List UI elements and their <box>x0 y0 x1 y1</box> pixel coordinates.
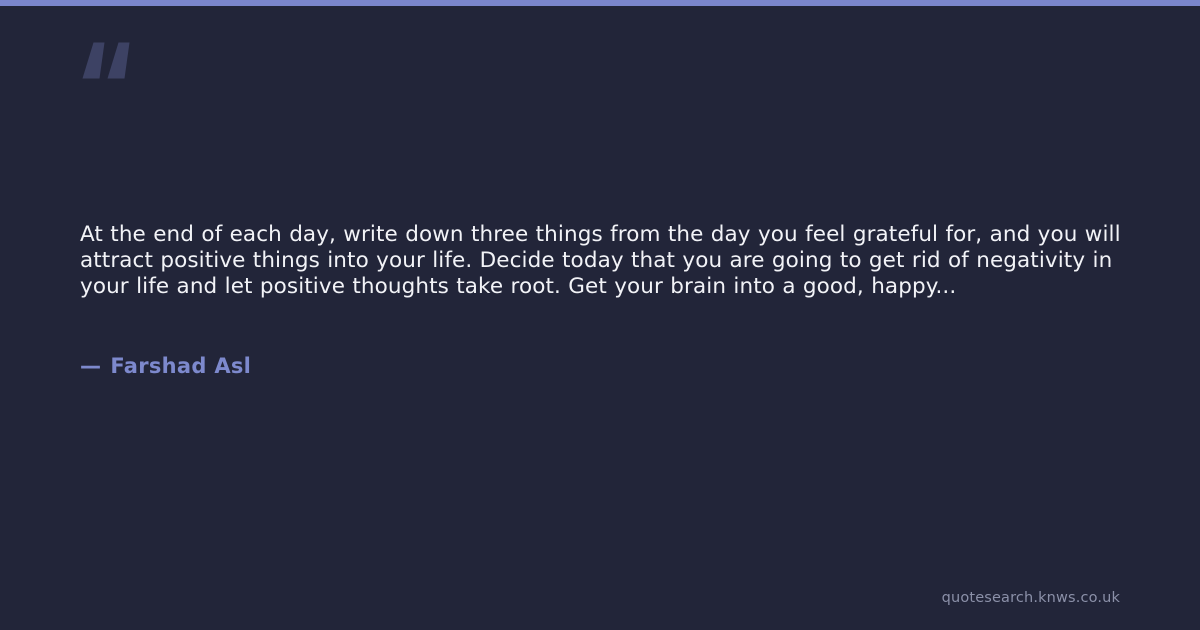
author-name: Farshad Asl <box>110 354 251 378</box>
quote-text: At the end of each day, write down three… <box>80 222 1124 301</box>
quote-card: At the end of each day, write down three… <box>0 0 1200 630</box>
quote-attribution: —Farshad Asl <box>80 354 251 378</box>
double-quote-open-icon <box>80 34 136 84</box>
quote-body: At the end of each day, write down three… <box>80 222 1124 301</box>
attribution-dash: — <box>80 354 101 378</box>
top-accent-bar <box>0 0 1200 6</box>
source-url: quotesearch.knws.co.uk <box>942 590 1120 606</box>
